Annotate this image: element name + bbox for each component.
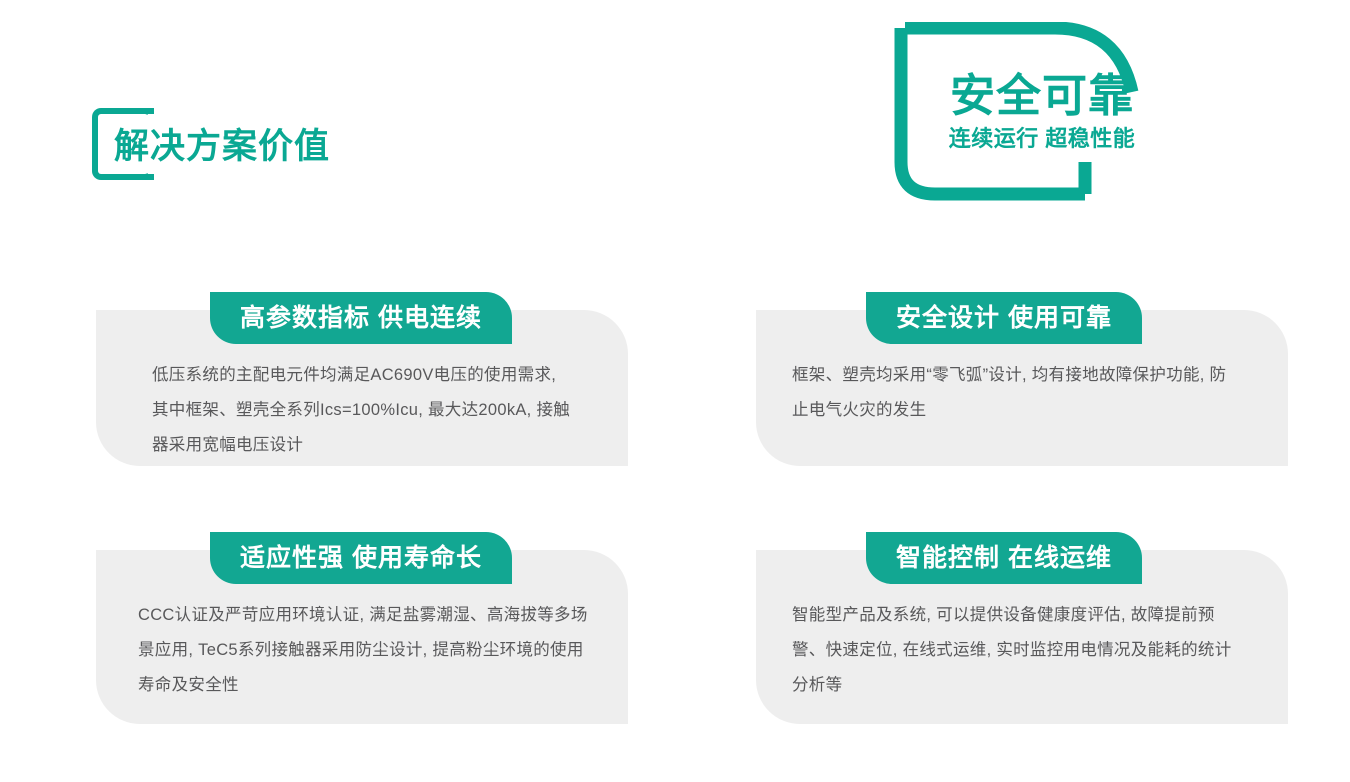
card-title-label: 智能控制 在线运维 xyxy=(896,532,1112,584)
card-body-high-parameter: 低压系统的主配电元件均满足AC690V电压的使用需求, 其中框架、塑壳全系列Ic… xyxy=(152,358,572,463)
slide-canvas: 解决方案价值 安全可靠 连续运行 超稳性能 高参数指标 供电连续 低压系统的主配… xyxy=(0,0,1350,782)
section-heading: 解决方案价值 xyxy=(92,108,392,188)
card-title-pill-safe-design[interactable]: 安全设计 使用可靠 xyxy=(866,292,1142,344)
logo-sub-text: 连续运行 超稳性能 xyxy=(939,124,1145,154)
card-title-pill-smart-control[interactable]: 智能控制 在线运维 xyxy=(866,532,1142,584)
logo-badge: 安全可靠 连续运行 超稳性能 xyxy=(893,22,1145,202)
card-body-smart-control: 智能型产品及系统, 可以提供设备健康度评估, 故障提前预警、快速定位, 在线式运… xyxy=(792,598,1237,703)
card-body-adaptability: CCC认证及严苛应用环境认证, 满足盐雾潮湿、高海拔等多场景应用, TeC5系列… xyxy=(138,598,588,703)
card-title-label: 安全设计 使用可靠 xyxy=(896,292,1112,344)
card-title-label: 高参数指标 供电连续 xyxy=(240,292,482,344)
logo-text-group: 安全可靠 连续运行 超稳性能 xyxy=(939,70,1145,154)
page-title: 解决方案价值 xyxy=(114,122,330,172)
card-title-pill-high-parameter[interactable]: 高参数指标 供电连续 xyxy=(210,292,512,344)
card-body-safe-design: 框架、塑壳均采用“零飞弧”设计, 均有接地故障保护功能, 防止电气火灾的发生 xyxy=(792,358,1232,428)
card-title-pill-adaptability[interactable]: 适应性强 使用寿命长 xyxy=(210,532,512,584)
card-title-label: 适应性强 使用寿命长 xyxy=(240,532,482,584)
logo-main-text: 安全可靠 xyxy=(939,70,1145,122)
